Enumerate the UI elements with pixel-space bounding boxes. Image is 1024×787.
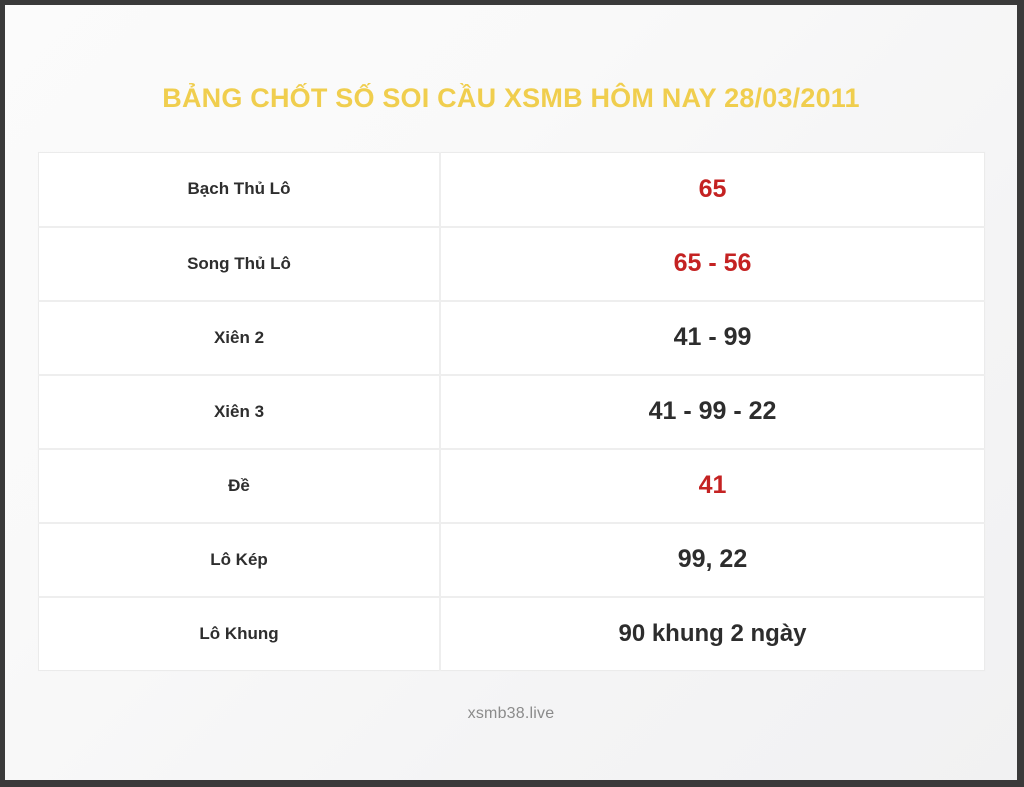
row-label: Lô Khung: [39, 597, 441, 671]
page-title: BẢNG CHỐT SỐ SOI CẦU XSMB HÔM NAY 28/03/…: [5, 83, 1017, 114]
row-value: 65 - 56: [440, 227, 985, 301]
row-value: 41 - 99 - 22: [440, 375, 985, 449]
row-value: 99, 22: [440, 523, 985, 597]
table-row: Đề 41: [39, 449, 985, 523]
row-label: Lô Kép: [39, 523, 441, 597]
row-value: 90 khung 2 ngày: [440, 597, 985, 671]
row-value: 41: [440, 449, 985, 523]
row-label: Đề: [39, 449, 441, 523]
table-row: Lô Khung 90 khung 2 ngày: [39, 597, 985, 671]
table-row: Lô Kép 99, 22: [39, 523, 985, 597]
result-board-screen: BẢNG CHỐT SỐ SOI CẦU XSMB HÔM NAY 28/03/…: [5, 5, 1017, 780]
row-label: Song Thủ Lô: [39, 227, 441, 301]
table-row: Xiên 2 41 - 99: [39, 301, 985, 375]
footer-site-label: xsmb38.live: [5, 705, 1017, 723]
row-label: Xiên 3: [39, 375, 441, 449]
row-value: 41 - 99: [440, 301, 985, 375]
row-value: 65: [440, 153, 985, 227]
table-body: Bạch Thủ Lô 65 Song Thủ Lô 65 - 56 Xiên …: [39, 153, 985, 671]
table-row: Song Thủ Lô 65 - 56: [39, 227, 985, 301]
lottery-prediction-table: Bạch Thủ Lô 65 Song Thủ Lô 65 - 56 Xiên …: [38, 152, 985, 671]
row-label: Bạch Thủ Lô: [39, 153, 441, 227]
table-row: Bạch Thủ Lô 65: [39, 153, 985, 227]
table-row: Xiên 3 41 - 99 - 22: [39, 375, 985, 449]
row-label: Xiên 2: [39, 301, 441, 375]
